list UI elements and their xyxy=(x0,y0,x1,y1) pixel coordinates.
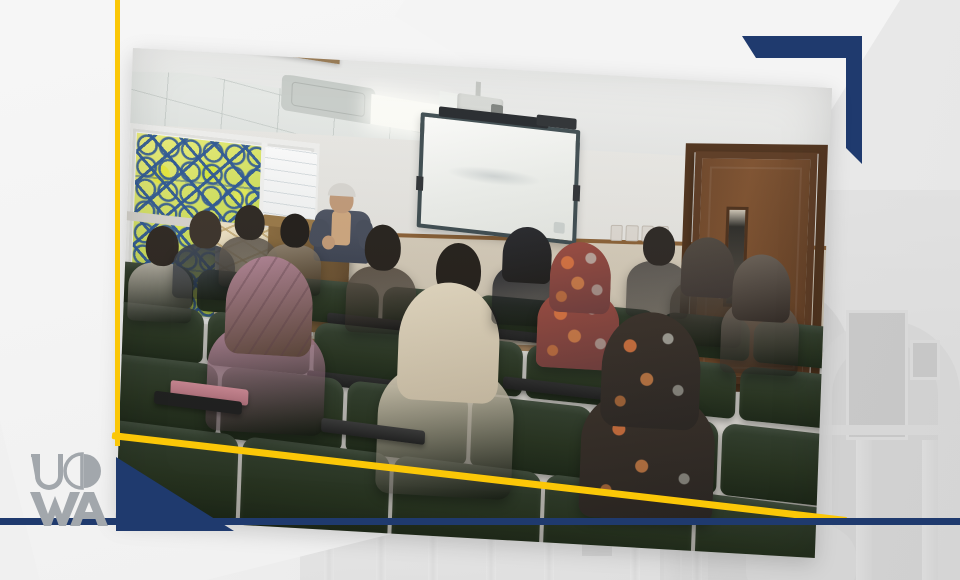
attendee-headscarf xyxy=(731,253,791,323)
attendee-headscarf xyxy=(599,309,702,431)
attendee-headscarf xyxy=(549,240,613,314)
lecture-seat xyxy=(720,423,832,509)
whiteboard-clip-left xyxy=(416,176,423,191)
attendee-head xyxy=(234,204,265,241)
watermark-window-2 xyxy=(910,340,940,380)
uowa-logo xyxy=(28,452,112,528)
attendee-headscarf xyxy=(224,254,315,358)
whiteboard-clip-right xyxy=(573,185,581,202)
attendee-13 xyxy=(578,308,719,516)
watermark-window-1 xyxy=(846,310,908,440)
watermark-column-3 xyxy=(922,440,938,580)
attendee-head xyxy=(280,213,310,249)
attendee-head xyxy=(189,210,222,250)
attendee-head xyxy=(364,224,402,272)
poster-canvas xyxy=(0,0,960,580)
navy-horizontal-rule xyxy=(0,518,960,525)
wall-switch-1 xyxy=(610,225,623,241)
attendee-headscarf xyxy=(396,280,501,405)
whiteboard-marks xyxy=(447,162,542,190)
gold-vertical-rule xyxy=(115,0,120,446)
uowa-logo-mark xyxy=(28,452,112,528)
attendee-14 xyxy=(720,252,802,372)
watermark-column-2 xyxy=(856,440,872,580)
